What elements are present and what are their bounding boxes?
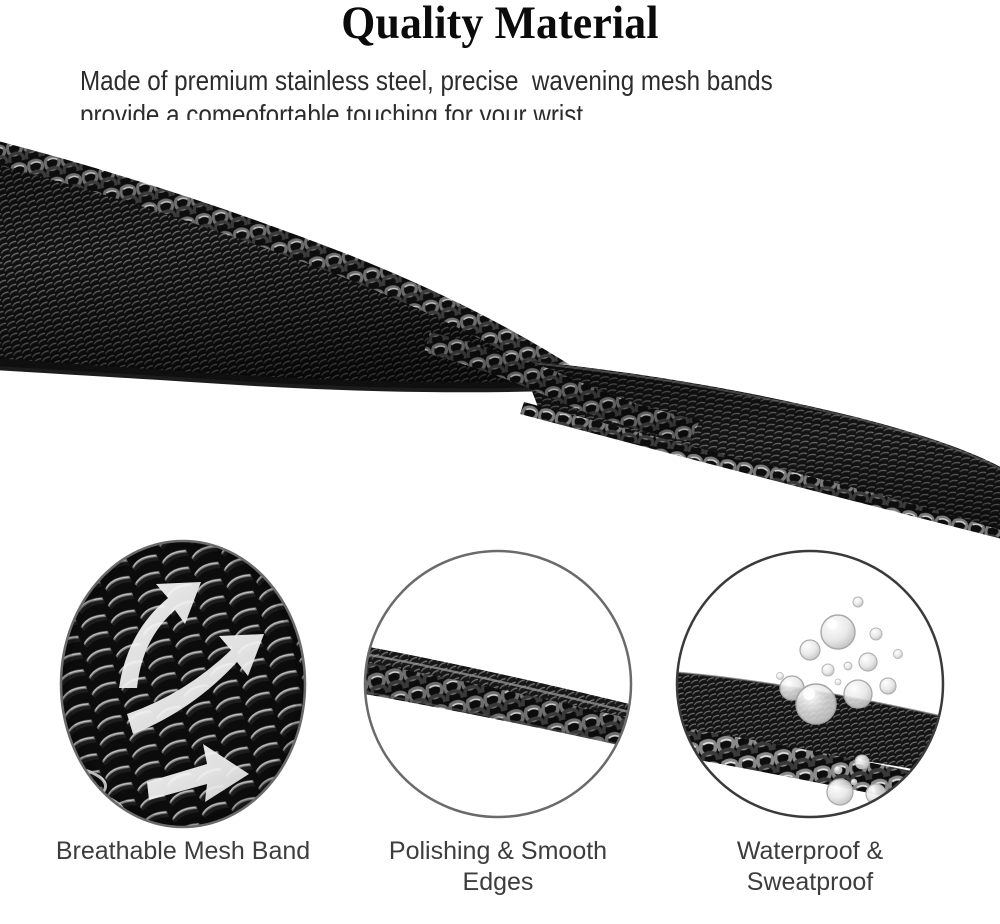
feature-polishing: Polishing & Smooth Edges bbox=[348, 536, 648, 924]
feature-caption-polishing: Polishing & Smooth Edges bbox=[348, 836, 648, 898]
hero-product-image bbox=[0, 120, 1000, 540]
feature-circle-polishing bbox=[350, 536, 646, 832]
feature-waterproof: Waterproof & Sweatproof bbox=[660, 536, 960, 924]
feature-caption-breathable: Breathable Mesh Band bbox=[33, 836, 333, 867]
airflow-arrows-icon bbox=[35, 536, 331, 832]
band-edge-icon bbox=[350, 536, 646, 832]
feature-circle-waterproof bbox=[662, 536, 958, 832]
feature-caption-waterproof: Waterproof & Sweatproof bbox=[660, 836, 960, 898]
feature-row: Breathable Mesh Band bbox=[0, 536, 1000, 924]
feature-circle-breathable bbox=[35, 536, 331, 832]
product-feature-panel: Quality Material Made of premium stainle… bbox=[0, 0, 1000, 924]
feature-breathable: Breathable Mesh Band bbox=[33, 536, 333, 924]
twisted-mesh-band-illustration bbox=[0, 120, 1000, 540]
page-title: Quality Material bbox=[35, 0, 965, 48]
water-droplets-icon bbox=[662, 536, 958, 832]
